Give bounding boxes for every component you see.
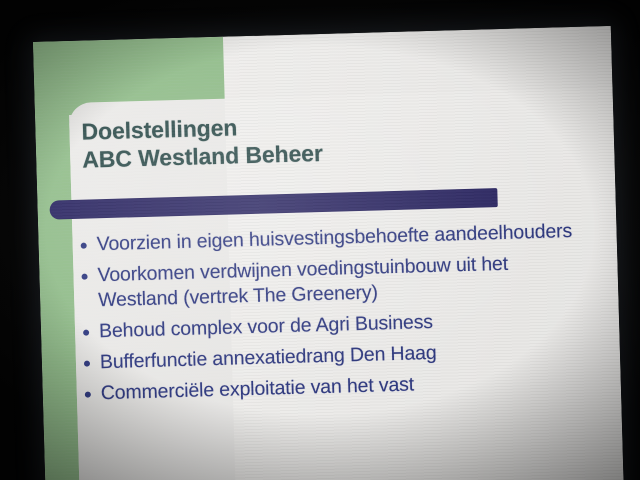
bullet-dot-icon [84,360,90,366]
bullet-text: Behoud complex voor de Agri Business [99,310,433,345]
slide-canvas: Doelstellingen ABC Westland Beheer Voorz… [33,26,624,480]
bullet-dot-icon [83,330,89,336]
bullet-text: Bufferfunctie annexatiedrang Den Haag [100,341,437,376]
bullet-text: Voorkomen verdwijnen voedingstuinbouw ui… [97,250,582,315]
bullet-text: Commerciële exploitatie van het vast [100,372,414,406]
projected-slide: Doelstellingen ABC Westland Beheer Voorz… [33,26,624,480]
bullet-dot-icon [81,273,87,279]
bullet-dot-icon [81,243,87,249]
list-item: Voorkomen verdwijnen voedingstuinbouw ui… [81,250,582,315]
bullet-dot-icon [85,391,91,397]
screenshot-root: Doelstellingen ABC Westland Beheer Voorz… [0,0,640,480]
bullet-list: Voorzien in eigen huisvestingsbehoefte a… [80,219,585,412]
